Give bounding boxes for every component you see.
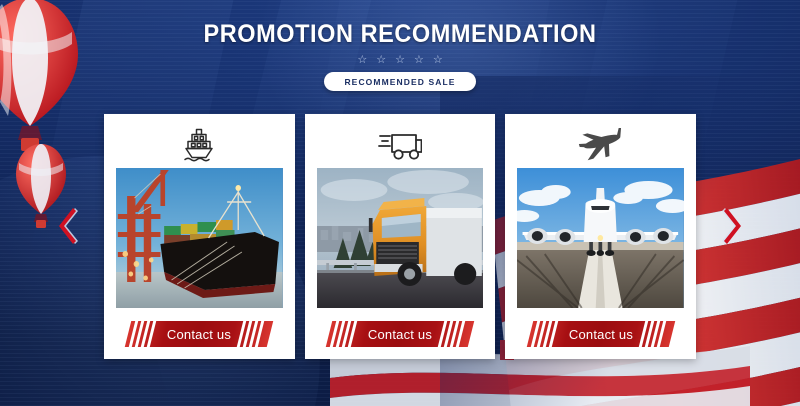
contact-us-label: Contact us <box>569 326 633 341</box>
stripe-decoration-right <box>438 321 470 347</box>
recommended-sale-badge: RECOMMENDED SALE <box>324 72 475 91</box>
contact-us-button[interactable]: Contact us <box>526 321 674 347</box>
stripe-decoration-right <box>638 321 670 347</box>
promotion-card[interactable]: Contact us <box>505 114 696 359</box>
promotion-header: PROMOTION RECOMMENDATION ☆ ☆ ☆ ☆ ☆ RECOM… <box>0 22 800 91</box>
promotion-card[interactable]: Contact us <box>305 114 496 359</box>
promotion-card[interactable]: Contact us <box>104 114 295 359</box>
stripe-decoration-left <box>129 321 161 347</box>
chevron-left-icon[interactable] <box>58 206 80 246</box>
contact-us-button[interactable]: Contact us <box>125 321 273 347</box>
airplane-runway-photo <box>517 168 684 308</box>
airplane-icon <box>578 122 624 168</box>
stripe-decoration-right <box>237 321 269 347</box>
chevron-right-icon[interactable] <box>720 206 742 246</box>
contact-us-label: Contact us <box>368 326 432 341</box>
contact-us-label: Contact us <box>167 326 231 341</box>
star-icon: ☆ <box>433 55 443 66</box>
star-icon: ☆ <box>357 55 367 66</box>
ship-icon <box>179 122 219 168</box>
semi-truck-photo <box>317 168 484 308</box>
promotion-slide: PROMOTION RECOMMENDATION ☆ ☆ ☆ ☆ ☆ RECOM… <box>0 0 800 406</box>
stripe-decoration-left <box>330 321 362 347</box>
contact-us-button[interactable]: Contact us <box>326 321 474 347</box>
star-icon: ☆ <box>395 55 405 66</box>
star-icon: ☆ <box>376 55 386 66</box>
star-icon: ☆ <box>414 55 424 66</box>
container-ship-photo <box>116 168 283 308</box>
promotion-card-list: Contact us <box>104 114 696 359</box>
star-rating: ☆ ☆ ☆ ☆ ☆ <box>0 55 800 66</box>
stripe-decoration-left <box>530 321 562 347</box>
delivery-truck-icon <box>378 122 422 168</box>
page-title: PROMOTION RECOMMENDATION <box>24 22 776 47</box>
